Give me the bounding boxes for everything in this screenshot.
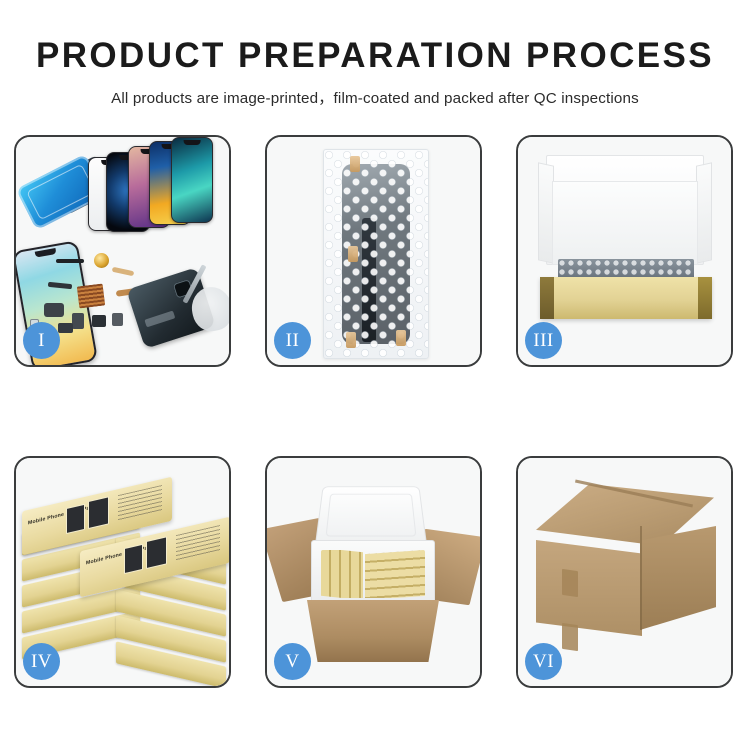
step-panel-6[interactable]: VI bbox=[516, 456, 733, 688]
box-label-text: Mobile Phone Spare Parts bbox=[28, 503, 97, 526]
step-badge-4: IV bbox=[23, 643, 60, 680]
carton-front-face bbox=[536, 540, 642, 636]
step-badge-3: III bbox=[525, 322, 562, 359]
small-component-part bbox=[56, 259, 84, 263]
tape-piece bbox=[346, 332, 356, 348]
step-panel-4[interactable]: Mobile Phone Spare Parts Mobile Phone Sp… bbox=[14, 456, 231, 688]
small-component-part bbox=[58, 323, 73, 333]
bubble-wrap-bag bbox=[323, 149, 429, 359]
page-title: PRODUCT PREPARATION PROCESS bbox=[0, 38, 750, 73]
step-badge-6: VI bbox=[525, 643, 562, 680]
bubble-wrap-texture bbox=[324, 150, 428, 358]
product-preparation-poster: PRODUCT PREPARATION PROCESS All products… bbox=[0, 0, 750, 750]
retail-box-column-left bbox=[321, 550, 363, 598]
vibration-motor-part bbox=[94, 253, 109, 268]
small-component-part bbox=[92, 315, 106, 327]
step-badge-2: II bbox=[274, 322, 311, 359]
step-panel-1[interactable]: I bbox=[14, 135, 231, 367]
process-steps-grid: I II bbox=[14, 135, 736, 688]
small-component-part bbox=[112, 313, 123, 326]
step-badge-1: I bbox=[23, 322, 60, 359]
inner-box-body bbox=[540, 277, 712, 319]
carton-side-face bbox=[640, 526, 716, 630]
box-label-text: Mobile Phone Spare Parts bbox=[86, 543, 155, 566]
tape-piece bbox=[350, 156, 360, 172]
box-window bbox=[88, 496, 109, 529]
small-component-part bbox=[44, 303, 64, 317]
copper-mesh-part bbox=[77, 283, 105, 308]
step-panel-3[interactable]: III bbox=[516, 135, 733, 367]
carton-tape-lower bbox=[562, 623, 578, 651]
step-panel-5[interactable]: V bbox=[265, 456, 482, 688]
step-badge-5: V bbox=[274, 643, 311, 680]
carton-tape-upper bbox=[562, 569, 578, 597]
carton-body bbox=[307, 600, 439, 662]
tape-piece bbox=[396, 330, 406, 346]
carton-vertical-edge bbox=[640, 526, 642, 630]
notch-icon bbox=[184, 140, 201, 145]
step-panel-2[interactable]: II bbox=[265, 135, 482, 367]
box-spec-lines bbox=[118, 485, 162, 521]
flex-cable-part bbox=[112, 267, 135, 276]
poster-header: PRODUCT PREPARATION PROCESS All products… bbox=[0, 0, 750, 108]
page-subtitle: All products are image-printed，film-coat… bbox=[0, 86, 750, 108]
foam-sheet bbox=[552, 181, 698, 265]
phone-screen-teal bbox=[171, 137, 213, 223]
tape-piece bbox=[348, 246, 358, 262]
foam-box-lid bbox=[315, 486, 427, 546]
box-window bbox=[66, 504, 85, 534]
box-window bbox=[146, 536, 167, 569]
notch-icon bbox=[35, 248, 57, 258]
retail-box-column-right bbox=[365, 550, 425, 598]
box-window bbox=[124, 544, 143, 574]
box-spec-lines bbox=[176, 525, 220, 561]
packed-retail-boxes bbox=[321, 550, 425, 598]
small-component-part bbox=[72, 313, 84, 329]
